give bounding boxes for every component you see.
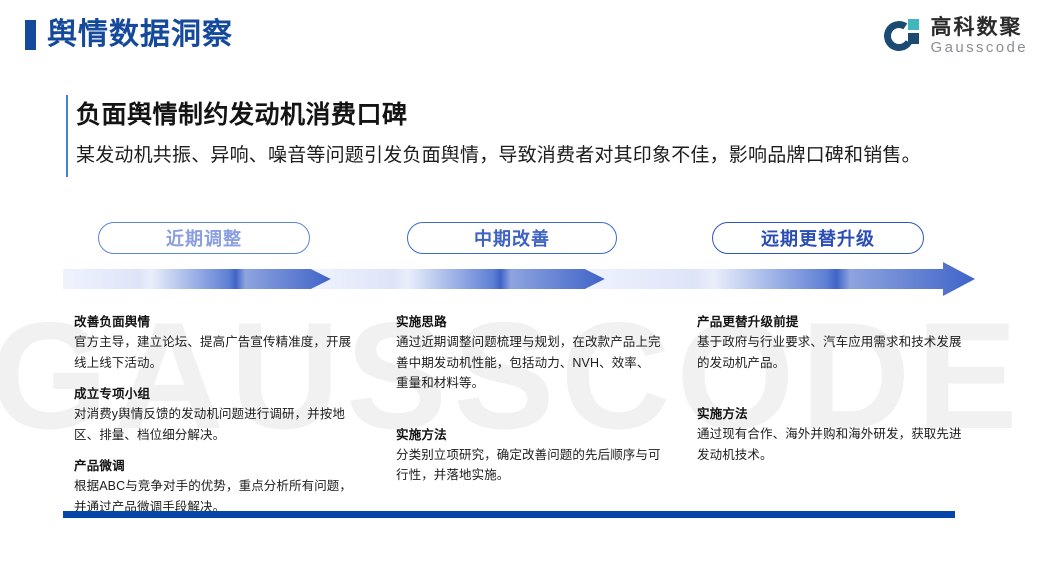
block-heading: 改善负面舆情: [74, 312, 356, 332]
slide-root: GAUSSCODE 舆情数据洞察 高科数聚 Gausscode 负面舆情制约发动…: [0, 0, 1050, 588]
detail-block: 产品微调 根据ABC与竞争对手的优势，重点分析所有问题，并通过产品微调手段解决。: [74, 456, 356, 517]
block-body: 通过现有合作、海外并购和海外研发，获取先进发动机技术。: [697, 424, 965, 465]
logo-wordmark: 高科数聚 Gausscode: [931, 17, 1028, 56]
header-accent-bar: [25, 20, 36, 50]
footer-rule: [63, 511, 955, 518]
detail-block: 成立专项小组 对消费y舆情反馈的发动机问题进行调研，并按地区、排量、档位细分解决…: [74, 384, 356, 445]
spacer: [396, 405, 661, 425]
block-body: 通过近期调整问题梳理与规划，在改款产品上完善中期发动机性能，包括动力、NVH、效…: [396, 332, 661, 394]
block-body: 基于政府与行业要求、汽车应用需求和技术发展的发动机产品。: [697, 332, 965, 373]
detail-column-near-term: 改善负面舆情 官方主导，建立论坛、提高广告宣传精准度，开展线上线下活动。 成立专…: [74, 312, 356, 528]
block-heading: 实施方法: [697, 404, 965, 424]
detail-block: 实施方法 分类别立项研究，确定改善问题的先后顺序与可行性，并落地实施。: [396, 425, 661, 486]
phase-pill-near-term[interactable]: 近期调整: [98, 222, 310, 254]
phase-pill-long-term[interactable]: 远期更替升级: [712, 222, 924, 254]
lead-title: 负面舆情制约发动机消费口碑: [76, 98, 408, 132]
detail-block: 改善负面舆情 官方主导，建立论坛、提高广告宣传精准度，开展线上线下活动。: [74, 312, 356, 373]
block-body: 分类别立项研究，确定改善问题的先后顺序与可行性，并落地实施。: [396, 445, 661, 486]
block-heading: 产品更替升级前提: [697, 312, 965, 332]
spacer: [697, 384, 965, 404]
phase-pill-mid-term[interactable]: 中期改善: [407, 222, 617, 254]
block-heading: 产品微调: [74, 456, 356, 476]
detail-column-mid-term: 实施思路 通过近期调整问题梳理与规划，在改款产品上完善中期发动机性能，包括动力、…: [396, 312, 661, 497]
detail-block: 实施思路 通过近期调整问题梳理与规划，在改款产品上完善中期发动机性能，包括动力、…: [396, 312, 661, 394]
block-body: 对消费y舆情反馈的发动机问题进行调研，并按地区、排量、档位细分解决。: [74, 404, 356, 445]
logo-name-cn: 高科数聚: [931, 17, 1028, 39]
page-title: 舆情数据洞察: [47, 16, 233, 54]
detail-column-long-term: 产品更替升级前提 基于政府与行业要求、汽车应用需求和技术发展的发动机产品。 实施…: [697, 312, 965, 476]
lead-accent-rule: [66, 95, 68, 177]
block-heading: 实施方法: [396, 425, 661, 445]
brand-logo: 高科数聚 Gausscode: [884, 14, 1028, 58]
gausscode-logo-mark: [884, 17, 922, 55]
timeline-arrow: [63, 262, 975, 296]
detail-block: 实施方法 通过现有合作、海外并购和海外研发，获取先进发动机技术。: [697, 404, 965, 465]
block-body: 官方主导，建立论坛、提高广告宣传精准度，开展线上线下活动。: [74, 332, 356, 373]
lead-subtitle: 某发动机共振、异响、噪音等问题引发负面舆情，导致消费者对其印象不佳，影响品牌口碑…: [76, 142, 921, 170]
logo-navy-square: [908, 33, 919, 44]
logo-name-en: Gausscode: [931, 39, 1028, 56]
block-heading: 成立专项小组: [74, 384, 356, 404]
block-heading: 实施思路: [396, 312, 661, 332]
detail-block: 产品更替升级前提 基于政府与行业要求、汽车应用需求和技术发展的发动机产品。: [697, 312, 965, 373]
logo-teal-square: [908, 19, 919, 30]
slide-header: 舆情数据洞察 高科数聚 Gausscode: [0, 0, 1050, 70]
